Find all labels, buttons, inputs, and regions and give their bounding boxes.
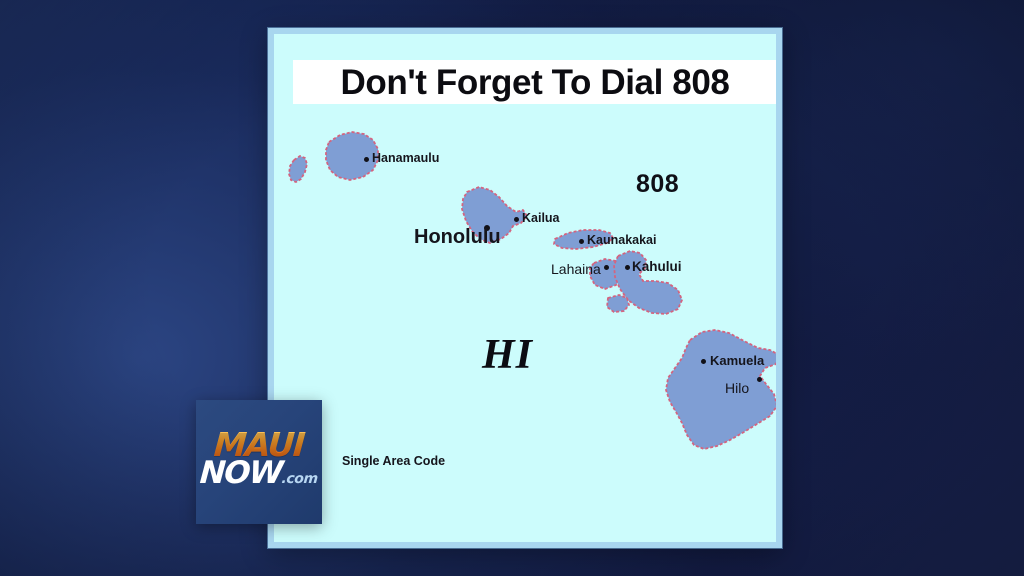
logo-now-line: NOW.com	[196, 458, 322, 489]
city-label-kahului: Kahului	[632, 259, 682, 274]
city-dot-hanamaulu	[364, 157, 369, 162]
city-label-kailua: Kailua	[522, 211, 560, 225]
area-code-label: 808	[636, 170, 679, 199]
page-title: Don't Forget To Dial 808	[341, 65, 730, 100]
title-banner: Don't Forget To Dial 808	[293, 60, 776, 104]
island-kauai	[326, 132, 378, 180]
city-label-lahaina: Lahaina	[551, 261, 601, 277]
map-caption: Single Area Code	[342, 454, 445, 468]
city-label-honolulu: Honolulu	[414, 226, 501, 249]
city-dot-kamuela	[701, 359, 706, 364]
city-dot-kailua	[514, 217, 519, 222]
city-dot-lahaina	[604, 265, 609, 270]
island-kahoolawe	[607, 295, 629, 312]
screenshot-stage: Don't Forget To Dial 808 808 HI Single A…	[0, 0, 1024, 576]
maui-now-logo: MAUI NOW.com	[196, 400, 322, 524]
city-dot-kaunakakai	[579, 239, 584, 244]
city-label-hilo: Hilo	[725, 380, 749, 396]
map-canvas: Don't Forget To Dial 808 808 HI Single A…	[274, 34, 776, 542]
city-label-kamuela: Kamuela	[710, 353, 764, 368]
island-niihau	[289, 156, 307, 182]
logo-text-now: NOW	[199, 455, 284, 491]
logo-wordmark: MAUI NOW.com	[196, 428, 322, 489]
map-panel: Don't Forget To Dial 808 808 HI Single A…	[268, 28, 782, 548]
city-dot-kahului	[625, 265, 630, 270]
island-hawaii	[666, 330, 776, 449]
city-dot-hilo	[757, 377, 762, 382]
city-label-kaunakakai: Kaunakakai	[587, 233, 656, 247]
logo-text-com: .com	[281, 471, 318, 487]
state-abbreviation-label: HI	[482, 331, 533, 379]
city-label-hanamaulu: Hanamaulu	[372, 151, 439, 165]
